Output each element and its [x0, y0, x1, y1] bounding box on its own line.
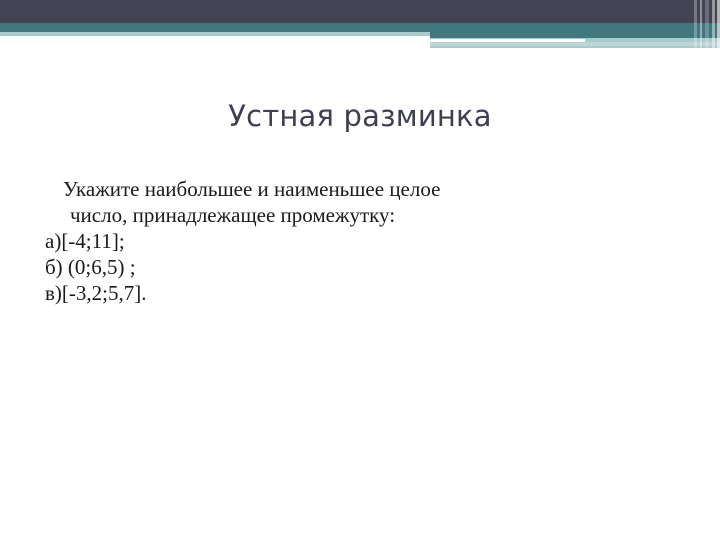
slide-title: Устная разминка [0, 98, 720, 134]
header-stripe-4 [712, 0, 715, 48]
task-item-v: в)[-3,2;5,7]. [42, 280, 682, 306]
task-prompt-line-1: Укажите наибольшее и наименьшее целое [42, 176, 682, 202]
task-prompt: Укажите наибольшее и наименьшее целое чи… [42, 176, 682, 228]
slide: Устная разминка Укажите наибольшее и наи… [0, 0, 720, 540]
task-prompt-line-2: число, принадлежащее промежутку: [42, 202, 682, 228]
header-stripe-3 [705, 0, 709, 48]
header-stripe-2 [700, 0, 702, 48]
header-decoration [0, 0, 720, 48]
header-dark-band [0, 0, 720, 23]
header-pale-band-lower [430, 42, 720, 46]
header-teal-band [0, 23, 720, 32]
task-item-a: а)[-4;11]; [42, 228, 682, 254]
header-fade-left [0, 36, 430, 40]
header-stripe-1 [694, 0, 697, 48]
slide-body: Укажите наибольшее и наименьшее целое чи… [42, 176, 682, 306]
task-item-b: б) (0;6,5) ; [42, 254, 682, 280]
